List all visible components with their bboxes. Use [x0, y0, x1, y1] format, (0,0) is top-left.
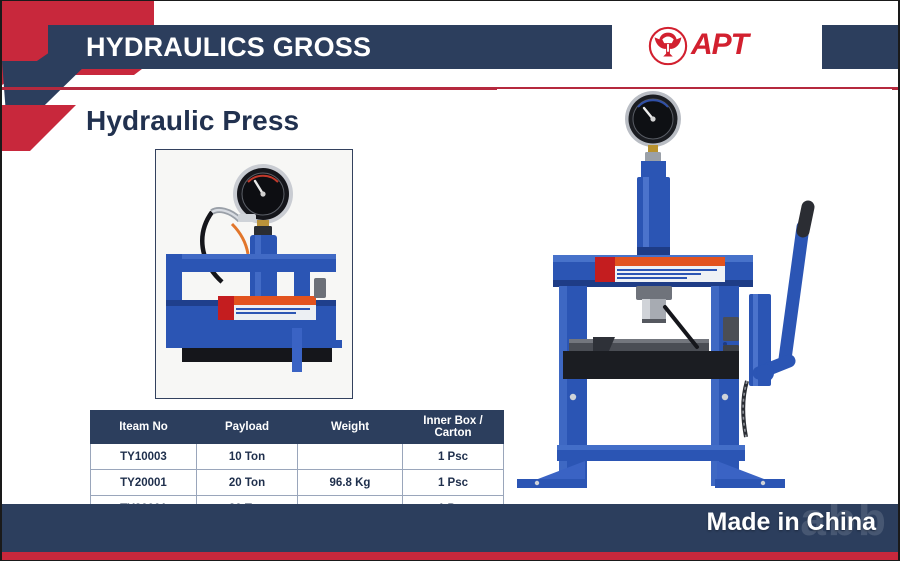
header-title: HYDRAULICS GROSS — [86, 28, 371, 66]
cell-item-no: TY10003 — [91, 444, 197, 470]
th-weight: Weight — [298, 411, 403, 444]
th-payload: Payload — [197, 411, 298, 444]
header-bar-right — [822, 25, 898, 69]
slide-root: HYDRAULICS GROSS APT Hydraulic Press — [0, 0, 900, 561]
page-title: Hydraulic Press — [86, 105, 299, 137]
cell-inner-box: 1 Psc — [403, 470, 504, 496]
footer-bar: abb Made in China — [2, 504, 898, 552]
cell-payload: 20 Ton — [197, 470, 298, 496]
table-header-row: Iteam No Payload Weight Inner Box / Cart… — [91, 411, 504, 444]
footer-red-strip — [2, 552, 898, 560]
table-row: TY10003 10 Ton 1 Psc — [91, 444, 504, 470]
apt-logo-text: APT — [691, 30, 748, 60]
table-row: TY20001 20 Ton 96.8 Kg 1 Psc — [91, 470, 504, 496]
made-in-china-label: Made in China — [707, 508, 876, 536]
product-hero-image — [497, 89, 892, 501]
cell-weight — [298, 444, 403, 470]
apt-bull-emblem-icon — [647, 25, 689, 67]
cell-payload: 10 Ton — [197, 444, 298, 470]
th-item-no: Iteam No — [91, 411, 197, 444]
apt-logo: APT — [647, 23, 792, 69]
th-inner-box: Inner Box / Carton — [403, 411, 504, 444]
cell-item-no: TY20001 — [91, 470, 197, 496]
cell-inner-box: 1 Psc — [403, 444, 504, 470]
cell-weight: 96.8 Kg — [298, 470, 403, 496]
product-thumbnail-image — [155, 149, 353, 399]
